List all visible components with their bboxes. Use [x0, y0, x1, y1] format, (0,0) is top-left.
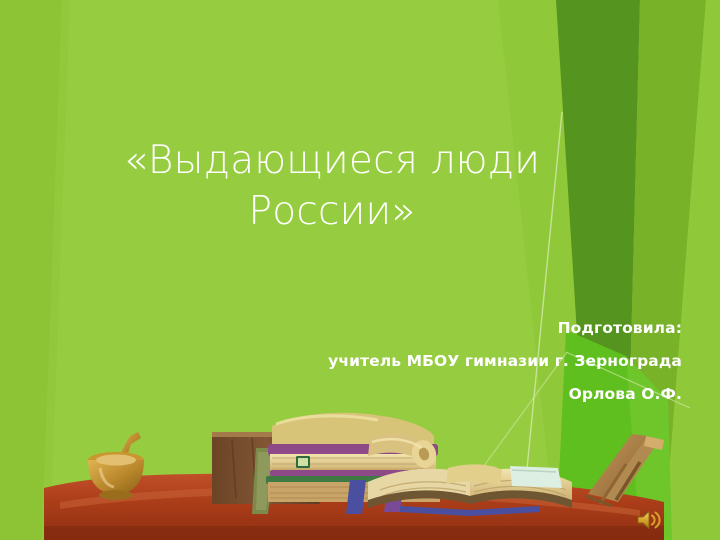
- page-title: «Выдающиеся люди России»: [52, 136, 612, 237]
- subtitle-block: Подготовила: учитель МБОУ гимназии г. Зе…: [162, 312, 682, 411]
- presentation-slide: «Выдающиеся люди России» Подготовила: уч…: [0, 0, 720, 540]
- loose-paper-white: [510, 466, 562, 488]
- subtitle-line-prepared-by: Подготовила:: [162, 312, 682, 345]
- title-block: «Выдающиеся люди России»: [52, 136, 612, 237]
- subtitle-line-author: Орлова О.Ф.: [162, 378, 682, 411]
- stacked-books: [266, 413, 442, 514]
- tablecloth-shadow: [44, 526, 664, 540]
- speaker-icon[interactable]: [636, 508, 662, 532]
- books-illustration: [0, 410, 720, 540]
- subtitle-line-school: учитель МБОУ гимназии г. Зернограда: [162, 345, 682, 378]
